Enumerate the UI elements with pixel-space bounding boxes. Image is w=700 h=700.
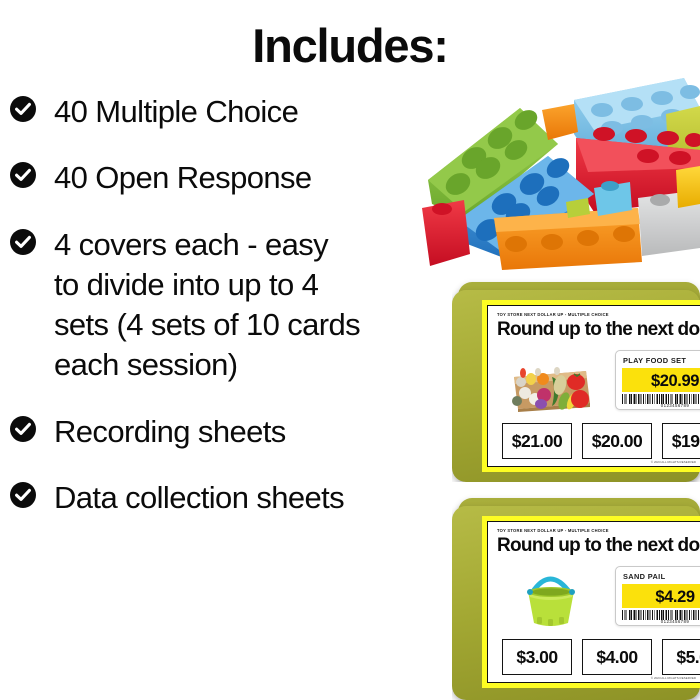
brick-chartreuse-small	[566, 198, 590, 218]
answer-choice-2[interactable]: $20.00	[582, 423, 652, 459]
task-card-1[interactable]: TOY STORE NEXT DOLLAR UP - MULTIPLE CHOI…	[452, 272, 700, 482]
check-circle-icon	[10, 96, 36, 122]
list-item: Recording sheets	[10, 412, 470, 452]
answer-choice-1[interactable]: $3.00	[502, 639, 572, 675]
answer-choice-2[interactable]: $4.00	[582, 639, 652, 675]
list-item-label: Data collection sheets	[54, 478, 344, 518]
answer-choices: $3.00 $4.00 $5.00	[502, 639, 700, 675]
list-item-label: 40 Open Response	[54, 158, 312, 198]
list-item: 4 covers each - easy to divide into up t…	[10, 225, 470, 386]
card-eyebrow: TOY STORE NEXT DOLLAR UP - MULTIPLE CHOI…	[497, 312, 609, 317]
price-tag: PLAY FOOD SET Retail Price $20.99 012345…	[615, 350, 700, 410]
brick-teal-small	[594, 181, 632, 216]
play-food-set-photo	[508, 351, 593, 413]
card-eyebrow: TOY STORE NEXT DOLLAR UP - MULTIPLE CHOI…	[497, 528, 609, 533]
check-circle-icon	[10, 482, 36, 508]
list-item-label: Recording sheets	[54, 412, 286, 452]
answer-choice-3[interactable]: $5.00	[662, 639, 700, 675]
product-name: SAND PAIL	[623, 572, 665, 581]
price-tag: SAND PAIL Retail Price $4.29 0123456789	[615, 566, 700, 626]
list-item: 40 Open Response	[10, 158, 470, 198]
brick-red	[576, 127, 700, 212]
brick-gray	[638, 190, 700, 256]
barcode-number: 0123456789	[616, 619, 700, 624]
answer-choice-3[interactable]: $19.00	[662, 423, 700, 459]
card-inner-border: TOY STORE NEXT DOLLAR UP - MULTIPLE CHOI…	[487, 521, 700, 683]
brick-orange-small	[542, 104, 578, 140]
brick-yellow	[676, 166, 700, 208]
check-circle-icon	[10, 229, 36, 255]
card-credit: © 2023 ALL RIGHTS RESERVED	[651, 460, 696, 464]
card-sheet: TOY STORE NEXT DOLLAR UP - MULTIPLE CHOI…	[482, 300, 700, 472]
price-value: $20.99	[622, 372, 700, 391]
card-credit: © 2023 ALL RIGHTS RESERVED	[651, 676, 696, 680]
price-highlight: Retail Price $4.29	[622, 584, 700, 608]
brick-light-blue	[574, 78, 700, 164]
check-circle-icon	[10, 416, 36, 442]
barcode-number: 0123456789	[616, 403, 700, 408]
sand-pail-photo	[508, 567, 593, 629]
price-highlight: Retail Price $20.99	[622, 368, 700, 392]
product-name: PLAY FOOD SET	[623, 356, 686, 365]
price-value: $4.29	[622, 588, 700, 607]
card-inner-border: TOY STORE NEXT DOLLAR UP - MULTIPLE CHOI…	[487, 305, 700, 467]
check-circle-icon	[10, 162, 36, 188]
task-card-2[interactable]: TOY STORE NEXT DOLLAR UP - MULTIPLE CHOI…	[452, 488, 700, 700]
brick-olive-right	[666, 106, 700, 188]
card-heading: Round up to the next dollar	[497, 535, 700, 557]
list-item-label: 4 covers each - easy to divide into up t…	[54, 225, 360, 386]
list-item: 40 Multiple Choice	[10, 92, 470, 132]
features-list: 40 Multiple Choice 40 Open Response 4 co…	[10, 92, 470, 544]
page-title: Includes:	[0, 18, 700, 73]
card-heading: Round up to the next dollar	[497, 319, 700, 341]
brick-blue	[458, 154, 594, 258]
brick-orange-long	[494, 208, 642, 270]
list-item: Data collection sheets	[10, 478, 470, 518]
answer-choices: $21.00 $20.00 $19.00	[502, 423, 700, 459]
slide-canvas: Includes: 40 Multiple Choice 40 Open Res…	[0, 0, 700, 700]
list-item-label: 40 Multiple Choice	[54, 92, 298, 132]
card-sheet: TOY STORE NEXT DOLLAR UP - MULTIPLE CHOI…	[482, 516, 700, 688]
answer-choice-1[interactable]: $21.00	[502, 423, 572, 459]
